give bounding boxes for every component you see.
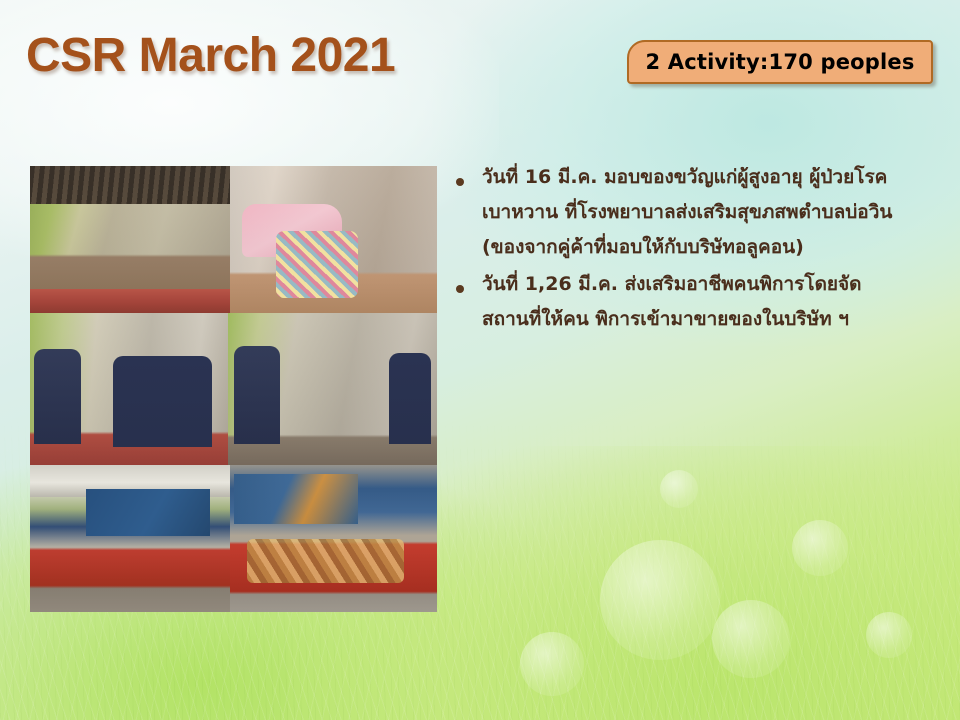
bullet-point-icon [456, 160, 482, 190]
bullet-list: วันที่ 16 มี.ค. มอบของขวัญแก่ผู้สูงอายุ … [456, 160, 908, 339]
photo-collage-row [30, 313, 437, 465]
photo-collage-row [30, 465, 437, 612]
photo-elderly-woman-gift [230, 166, 437, 313]
photo-staff-group-with-sign [228, 313, 437, 465]
background-bokeh-circle [866, 612, 912, 658]
background-bokeh-circle [712, 600, 790, 678]
list-item: วันที่ 16 มี.ค. มอบของขวัญแก่ผู้สูงอายุ … [456, 160, 908, 265]
background-bokeh-circle [792, 520, 848, 576]
photo-collage-row [30, 166, 437, 313]
activity-count-badge-label: 2 Activity:170 peoples [645, 50, 914, 74]
slide: CSR March 2021 2 Activity:170 peoples วั… [0, 0, 960, 720]
photo-collage [30, 166, 437, 612]
background-bokeh-circle [660, 470, 698, 508]
background-bokeh-circle [520, 632, 584, 696]
list-item: วันที่ 1,26 มี.ค. ส่งเสริมอาชีพคนพิการโด… [456, 267, 908, 337]
bullet-text: วันที่ 16 มี.ค. มอบของขวัญแก่ผู้สูงอายุ … [482, 160, 908, 265]
bullet-text: วันที่ 1,26 มี.ค. ส่งเสริมอาชีพคนพิการโด… [482, 267, 908, 337]
photo-market-stall-browsing [30, 465, 230, 612]
activity-count-badge: 2 Activity:170 peoples [627, 40, 933, 84]
background-bokeh-circle [600, 540, 720, 660]
photo-snack-stall-vendors [230, 465, 437, 612]
photo-staff-handover-goods [30, 313, 228, 465]
page-title: CSR March 2021 [26, 28, 395, 83]
bullet-point-icon [456, 267, 482, 297]
photo-group-donation-canopy [30, 166, 230, 313]
